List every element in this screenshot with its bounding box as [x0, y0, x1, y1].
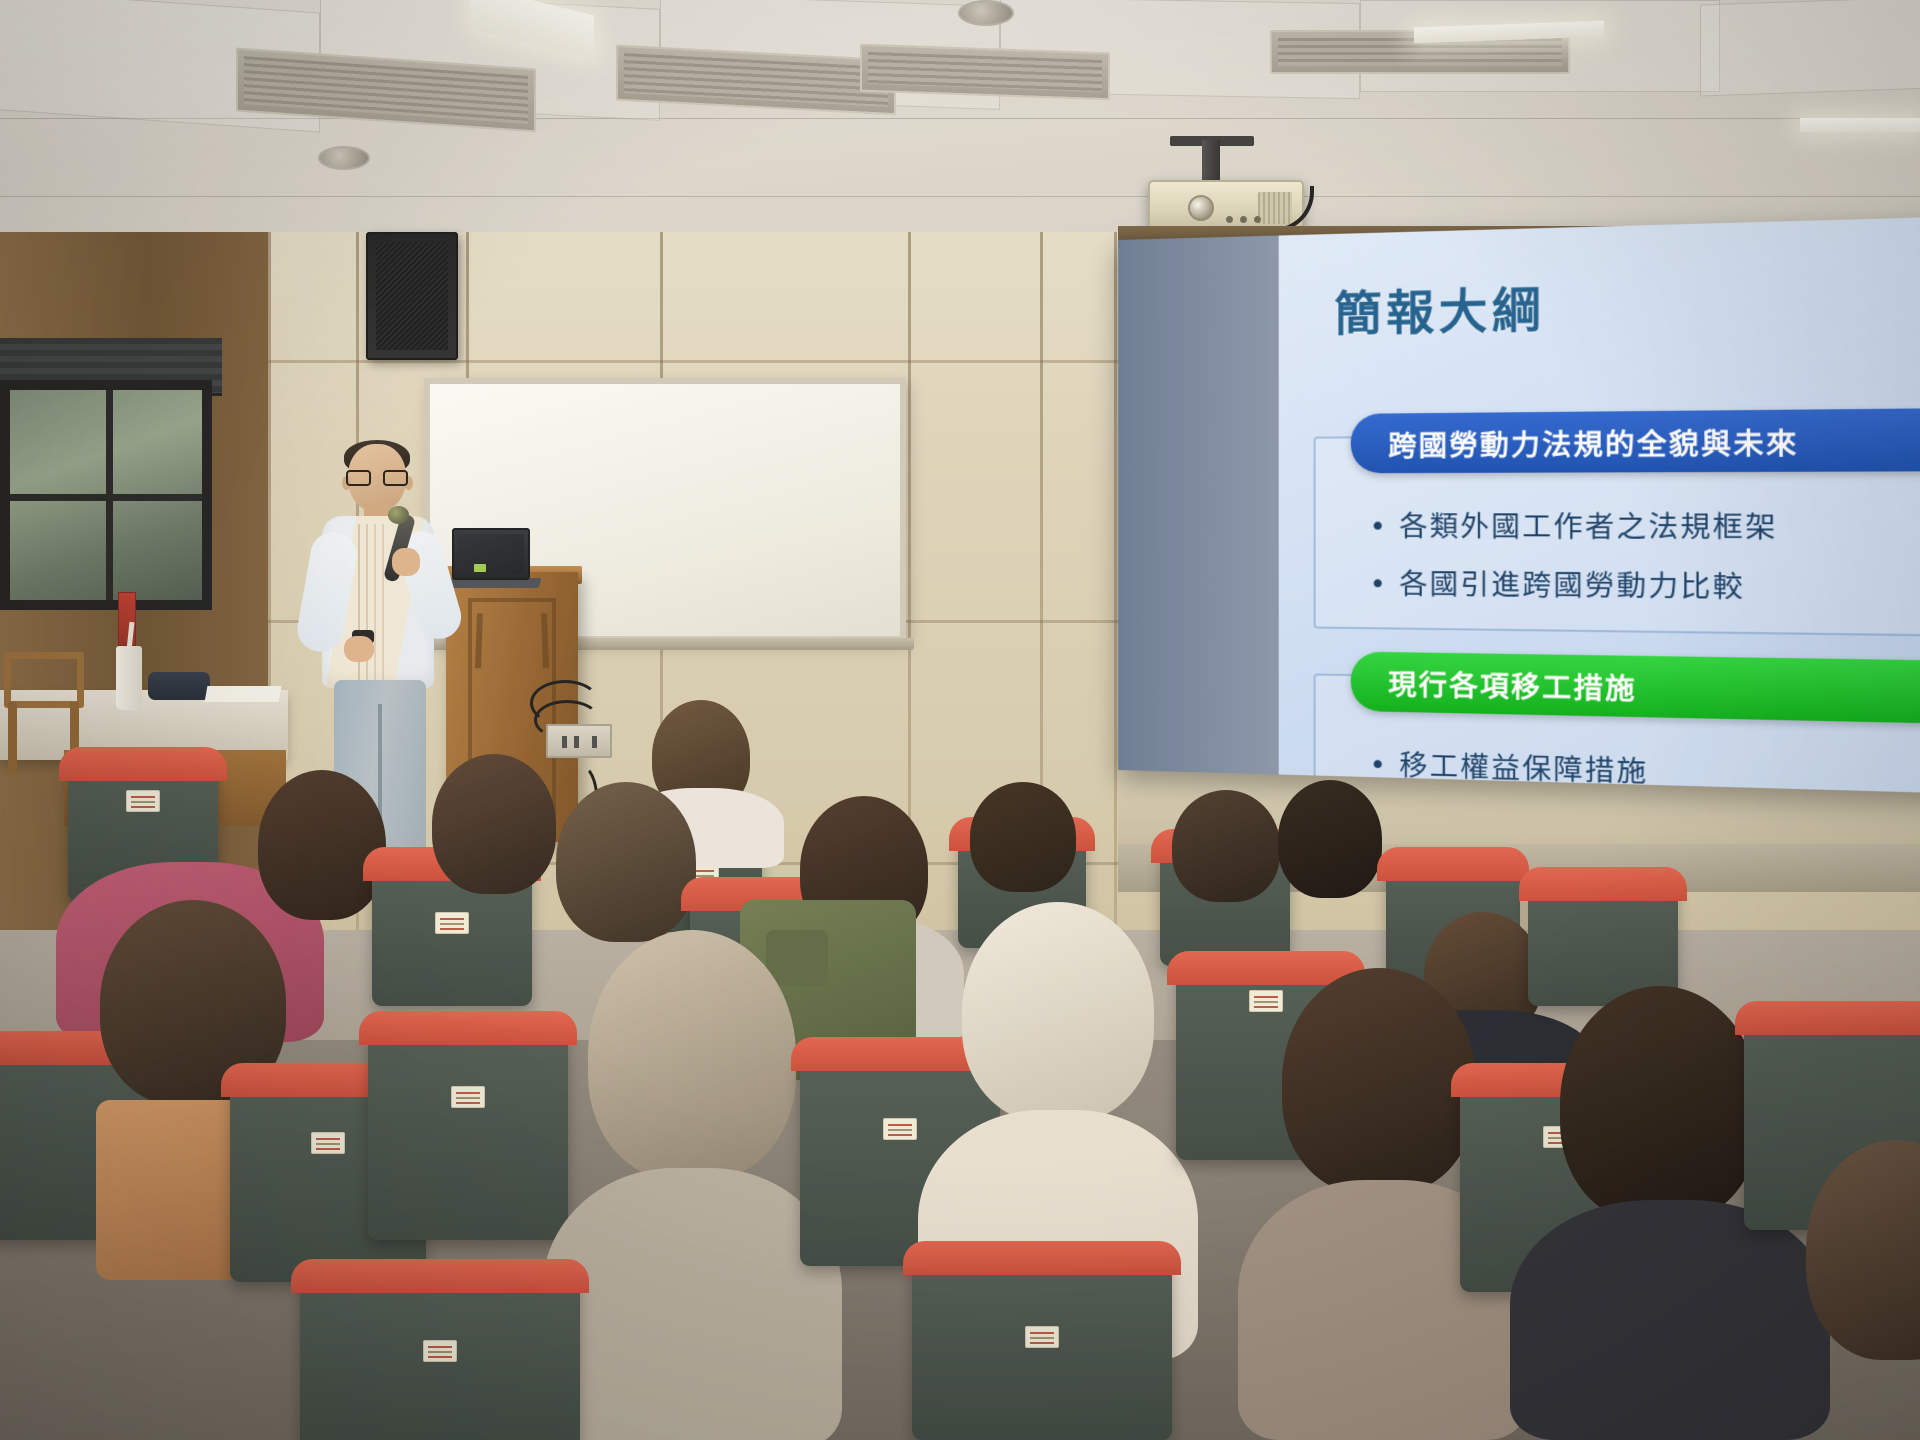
black-pouch [148, 672, 210, 700]
backpack-pocket [766, 930, 828, 986]
audience-head [962, 902, 1154, 1122]
audience-head [1282, 968, 1476, 1194]
section-2-heading-text: 現行各項移工措施 [1388, 662, 1637, 707]
presenter-left-hand [344, 636, 374, 662]
projector-lens-icon [1188, 195, 1214, 221]
podium-decorative-inlay [475, 613, 549, 668]
seat [368, 1020, 568, 1240]
section-1-heading-bar: 跨國勞動力法規的全貌與未來 [1351, 407, 1920, 473]
ceiling-light [1800, 118, 1920, 132]
ceiling-air-vent [860, 44, 1110, 101]
window [0, 380, 212, 610]
seat-number-tag [883, 1118, 917, 1140]
audience-shoulders [542, 1168, 842, 1440]
audience-head [1172, 790, 1280, 902]
lecture-room-photo: 簡報大綱 跨國勞動力法規的全貌與未來 各類外國工作者之法規框架 各國引進跨國勞動… [0, 0, 1920, 1440]
audience-head [432, 754, 556, 894]
audience-head [1560, 986, 1760, 1222]
presentation-slide: 簡報大綱 跨國勞動力法規的全貌與未來 各類外國工作者之法規框架 各國引進跨國勞動… [1279, 216, 1920, 795]
audience-head [258, 770, 386, 920]
ceiling-speaker-icon [958, 0, 1014, 26]
section-1-heading-text: 跨國勞動力法規的全貌與未來 [1388, 420, 1799, 464]
drink-cup [116, 646, 142, 710]
audience-head [556, 782, 696, 942]
microphone-head-icon [388, 506, 409, 524]
audience-shoulders [1510, 1200, 1830, 1440]
eyeglasses-icon [346, 470, 408, 486]
ceiling-speaker-icon [318, 146, 370, 170]
seat-number-tag [435, 912, 469, 934]
floor-power-outlet [546, 724, 612, 758]
audience-head [970, 782, 1076, 892]
seat-number-tag [126, 790, 160, 812]
projection-screen: 簡報大綱 跨國勞動力法規的全貌與未來 各類外國工作者之法規框架 各國引進跨國勞動… [1118, 216, 1920, 795]
section-1-bullet-1: 各類外國工作者之法規框架 [1369, 504, 1777, 546]
papers-on-table [205, 686, 282, 702]
seat-number-tag [311, 1132, 345, 1154]
ceiling [0, 0, 1920, 250]
audience-head [1278, 780, 1382, 898]
projector-mount-arm [1202, 140, 1220, 184]
seat-number-tag [423, 1340, 457, 1362]
seat [912, 1250, 1172, 1440]
screen-unlit-margin [1118, 236, 1279, 775]
seat-number-tag [1249, 990, 1283, 1012]
seat-number-tag [1025, 1326, 1059, 1348]
slide-title: 簡報大綱 [1334, 272, 1545, 344]
presenter-right-hand [392, 548, 420, 576]
audience-head [588, 930, 796, 1180]
section-1-bullet-2: 各國引進跨國勞動力比較 [1369, 561, 1745, 605]
seat [300, 1268, 580, 1440]
seat-number-tag [451, 1086, 485, 1108]
wall-speaker [366, 232, 458, 360]
